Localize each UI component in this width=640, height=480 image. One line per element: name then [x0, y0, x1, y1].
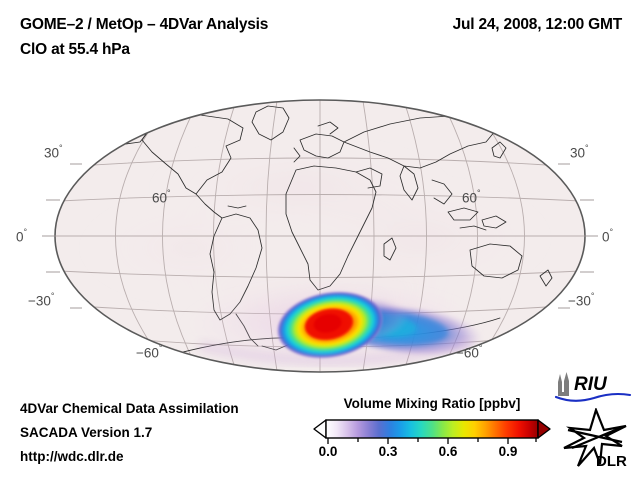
- colorbar-scale: [312, 418, 552, 446]
- colorbar-tick-1: 0.3: [379, 444, 398, 459]
- colorbar-tick-0: 0.0: [319, 444, 338, 459]
- figure-subtitle: ClO at 55.4 hPa: [20, 41, 130, 59]
- riu-logo: RIU: [552, 370, 632, 404]
- lat-label-right-m60: −60°: [456, 344, 483, 361]
- lat-label-left-m30: −30°: [28, 292, 55, 309]
- map-panel: 60° 30° 0° −30° −60° 60° 30° 0° −30° −60…: [0, 88, 640, 388]
- colorbar-title: Volume Mixing Ratio [ppbv]: [312, 396, 552, 411]
- figure-canvas: GOME–2 / MetOp – 4DVar Analysis ClO at 5…: [0, 0, 640, 480]
- lat-label-right-60: 60°: [462, 189, 481, 206]
- cathedral-icon: [558, 372, 569, 396]
- footer-line-dataset: 4DVar Chemical Data Assimilation: [20, 401, 239, 416]
- lat-label-left-60: 60°: [152, 189, 171, 206]
- footer-line-url[interactable]: http://wdc.dlr.de: [20, 449, 124, 464]
- footer-line-version: SACADA Version 1.7: [20, 425, 152, 440]
- lat-label-left-m60: −60°: [136, 344, 163, 361]
- lat-label-right-m30: −30°: [568, 292, 595, 309]
- colorbar-tick-2: 0.6: [439, 444, 458, 459]
- colorbar-max-arrow: [538, 420, 550, 438]
- lat-label-left-30: 30°: [44, 144, 63, 161]
- figure-title: GOME–2 / MetOp – 4DVar Analysis: [20, 16, 268, 34]
- lat-label-right-0: 0°: [602, 228, 613, 245]
- colorbar: Volume Mixing Ratio [ppbv]: [312, 396, 552, 468]
- dlr-logo: DLR: [560, 408, 632, 470]
- figure-timestamp: Jul 24, 2008, 12:00 GMT: [453, 16, 622, 34]
- world-map: [0, 88, 640, 388]
- dlr-wordmark: DLR: [596, 453, 627, 470]
- lat-label-left-0: 0°: [16, 228, 27, 245]
- colorbar-tick-3: 0.9: [499, 444, 518, 459]
- colorbar-gradient: [326, 420, 538, 438]
- riu-wordmark: RIU: [574, 374, 608, 395]
- colorbar-min-arrow: [314, 420, 326, 438]
- lat-label-right-30: 30°: [570, 144, 589, 161]
